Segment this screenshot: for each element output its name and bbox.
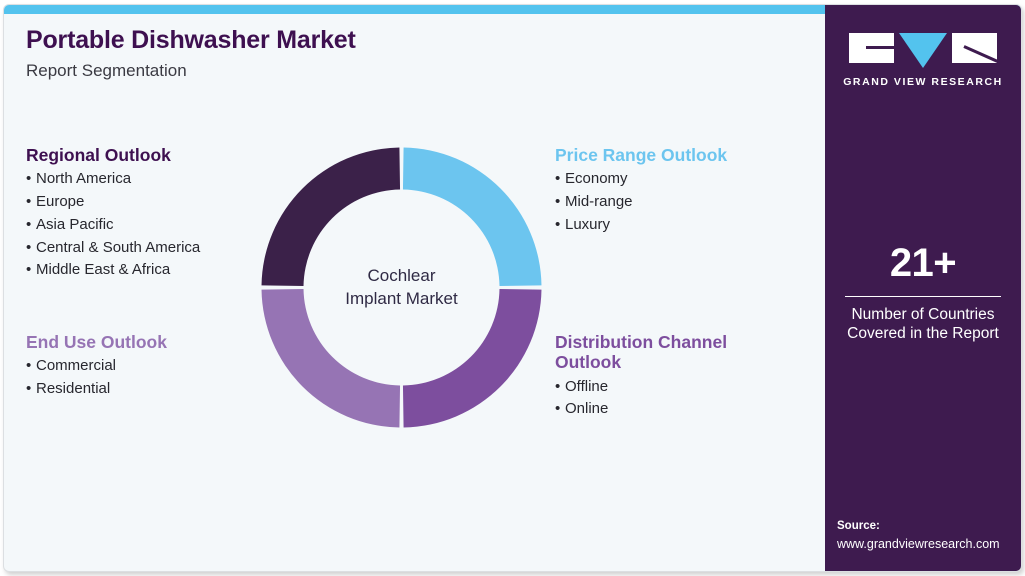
list-item: •Central & South America — [26, 237, 200, 260]
list-item: •Offline — [555, 376, 755, 399]
bullet-icon: • — [555, 376, 565, 399]
segment-title-end-use: End Use Outlook — [26, 332, 167, 352]
logo-marks — [825, 33, 1021, 67]
logo-v-triangle-icon — [899, 33, 947, 68]
list-item: •Asia Pacific — [26, 214, 200, 237]
brand-logo: GRAND VIEW RESEARCH — [825, 33, 1021, 88]
report-card: Portable Dishwasher Market Report Segmen… — [3, 4, 1022, 572]
bullet-icon: • — [555, 191, 565, 214]
list-item-label: Residential — [36, 380, 110, 397]
segment-title-distribution-channel: Distribution Channel Outlook — [555, 332, 755, 373]
donut-slice: Price Range Outlook — [403, 148, 542, 287]
bullet-icon: • — [26, 168, 36, 191]
bullet-icon: • — [26, 378, 36, 401]
segment-list-end-use: •Commercial •Residential — [26, 355, 167, 401]
infographic-root: Portable Dishwasher Market Report Segmen… — [0, 0, 1025, 576]
segment-distribution-channel-outlook: Distribution Channel Outlook •Offline •O… — [555, 332, 755, 421]
list-item: •North America — [26, 168, 200, 191]
sidebar: GRAND VIEW RESEARCH 21+ Number of Countr… — [825, 5, 1021, 571]
donut-slice: Regional Outlook — [262, 148, 401, 287]
list-item-label: North America — [36, 170, 131, 187]
statistic-label-line2: Covered in the Report — [825, 324, 1021, 343]
bullet-icon: • — [555, 214, 565, 237]
segment-price-range-outlook: Price Range Outlook •Economy •Mid-range … — [555, 145, 727, 237]
bullet-icon: • — [26, 355, 36, 378]
list-item-label: Economy — [565, 170, 628, 187]
page-title: Portable Dishwasher Market — [26, 27, 726, 55]
list-item: •Europe — [26, 191, 200, 214]
logo-wordmark: GRAND VIEW RESEARCH — [825, 76, 1021, 88]
statistic-divider — [845, 296, 1001, 297]
segment-list-distribution-channel: •Offline •Online — [555, 376, 755, 422]
donut-chart-svg: Price Range OutlookDistribution Channel … — [260, 146, 543, 429]
list-item: •Residential — [26, 378, 167, 401]
list-item: •Commercial — [26, 355, 167, 378]
statistic-label-line1: Number of Countries — [825, 305, 1021, 324]
list-item-label: Mid-range — [565, 193, 633, 210]
list-item: •Middle East & Africa — [26, 259, 200, 282]
donut-slice: End Use Outlook — [262, 289, 401, 428]
source-title: Source: — [837, 518, 1000, 535]
bullet-icon: • — [26, 191, 36, 214]
logo-r-icon — [952, 33, 997, 63]
statistic-value: 21+ — [825, 243, 1021, 283]
logo-g-icon — [849, 33, 894, 63]
source-url[interactable]: www.grandviewresearch.com — [837, 536, 1000, 554]
list-item-label: Luxury — [565, 216, 610, 233]
segment-title-regional: Regional Outlook — [26, 145, 200, 165]
bullet-icon: • — [26, 237, 36, 260]
list-item-label: Commercial — [36, 357, 116, 374]
page-subtitle: Report Segmentation — [26, 62, 726, 81]
list-item-label: Offline — [565, 378, 608, 395]
donut-segments: Price Range OutlookDistribution Channel … — [262, 148, 542, 428]
statistic-block: 21+ Number of Countries Covered in the R… — [825, 243, 1021, 344]
list-item-label: Asia Pacific — [36, 216, 114, 233]
list-item: •Mid-range — [555, 191, 727, 214]
segment-end-use-outlook: End Use Outlook •Commercial •Residential — [26, 332, 167, 401]
segment-list-regional: •North America •Europe •Asia Pacific •Ce… — [26, 168, 200, 282]
segment-title-price-range: Price Range Outlook — [555, 145, 727, 165]
statistic-label: Number of Countries Covered in the Repor… — [825, 305, 1021, 344]
donut-slice: Distribution Channel Outlook — [403, 289, 542, 428]
list-item: •Online — [555, 398, 755, 421]
list-item-label: Online — [565, 400, 608, 417]
bullet-icon: • — [555, 398, 565, 421]
list-item-label: Europe — [36, 193, 84, 210]
donut-chart: Price Range OutlookDistribution Channel … — [260, 146, 543, 429]
bullet-icon: • — [26, 214, 36, 237]
segment-list-price-range: •Economy •Mid-range •Luxury — [555, 168, 727, 236]
bullet-icon: • — [26, 259, 36, 282]
list-item-label: Middle East & Africa — [36, 261, 170, 278]
bullet-icon: • — [555, 168, 565, 191]
list-item: •Economy — [555, 168, 727, 191]
segment-regional-outlook: Regional Outlook •North America •Europe … — [26, 145, 200, 282]
source-block: Source: www.grandviewresearch.com — [837, 518, 1000, 553]
list-item-label: Central & South America — [36, 239, 200, 256]
list-item: •Luxury — [555, 214, 727, 237]
header: Portable Dishwasher Market Report Segmen… — [26, 27, 726, 80]
